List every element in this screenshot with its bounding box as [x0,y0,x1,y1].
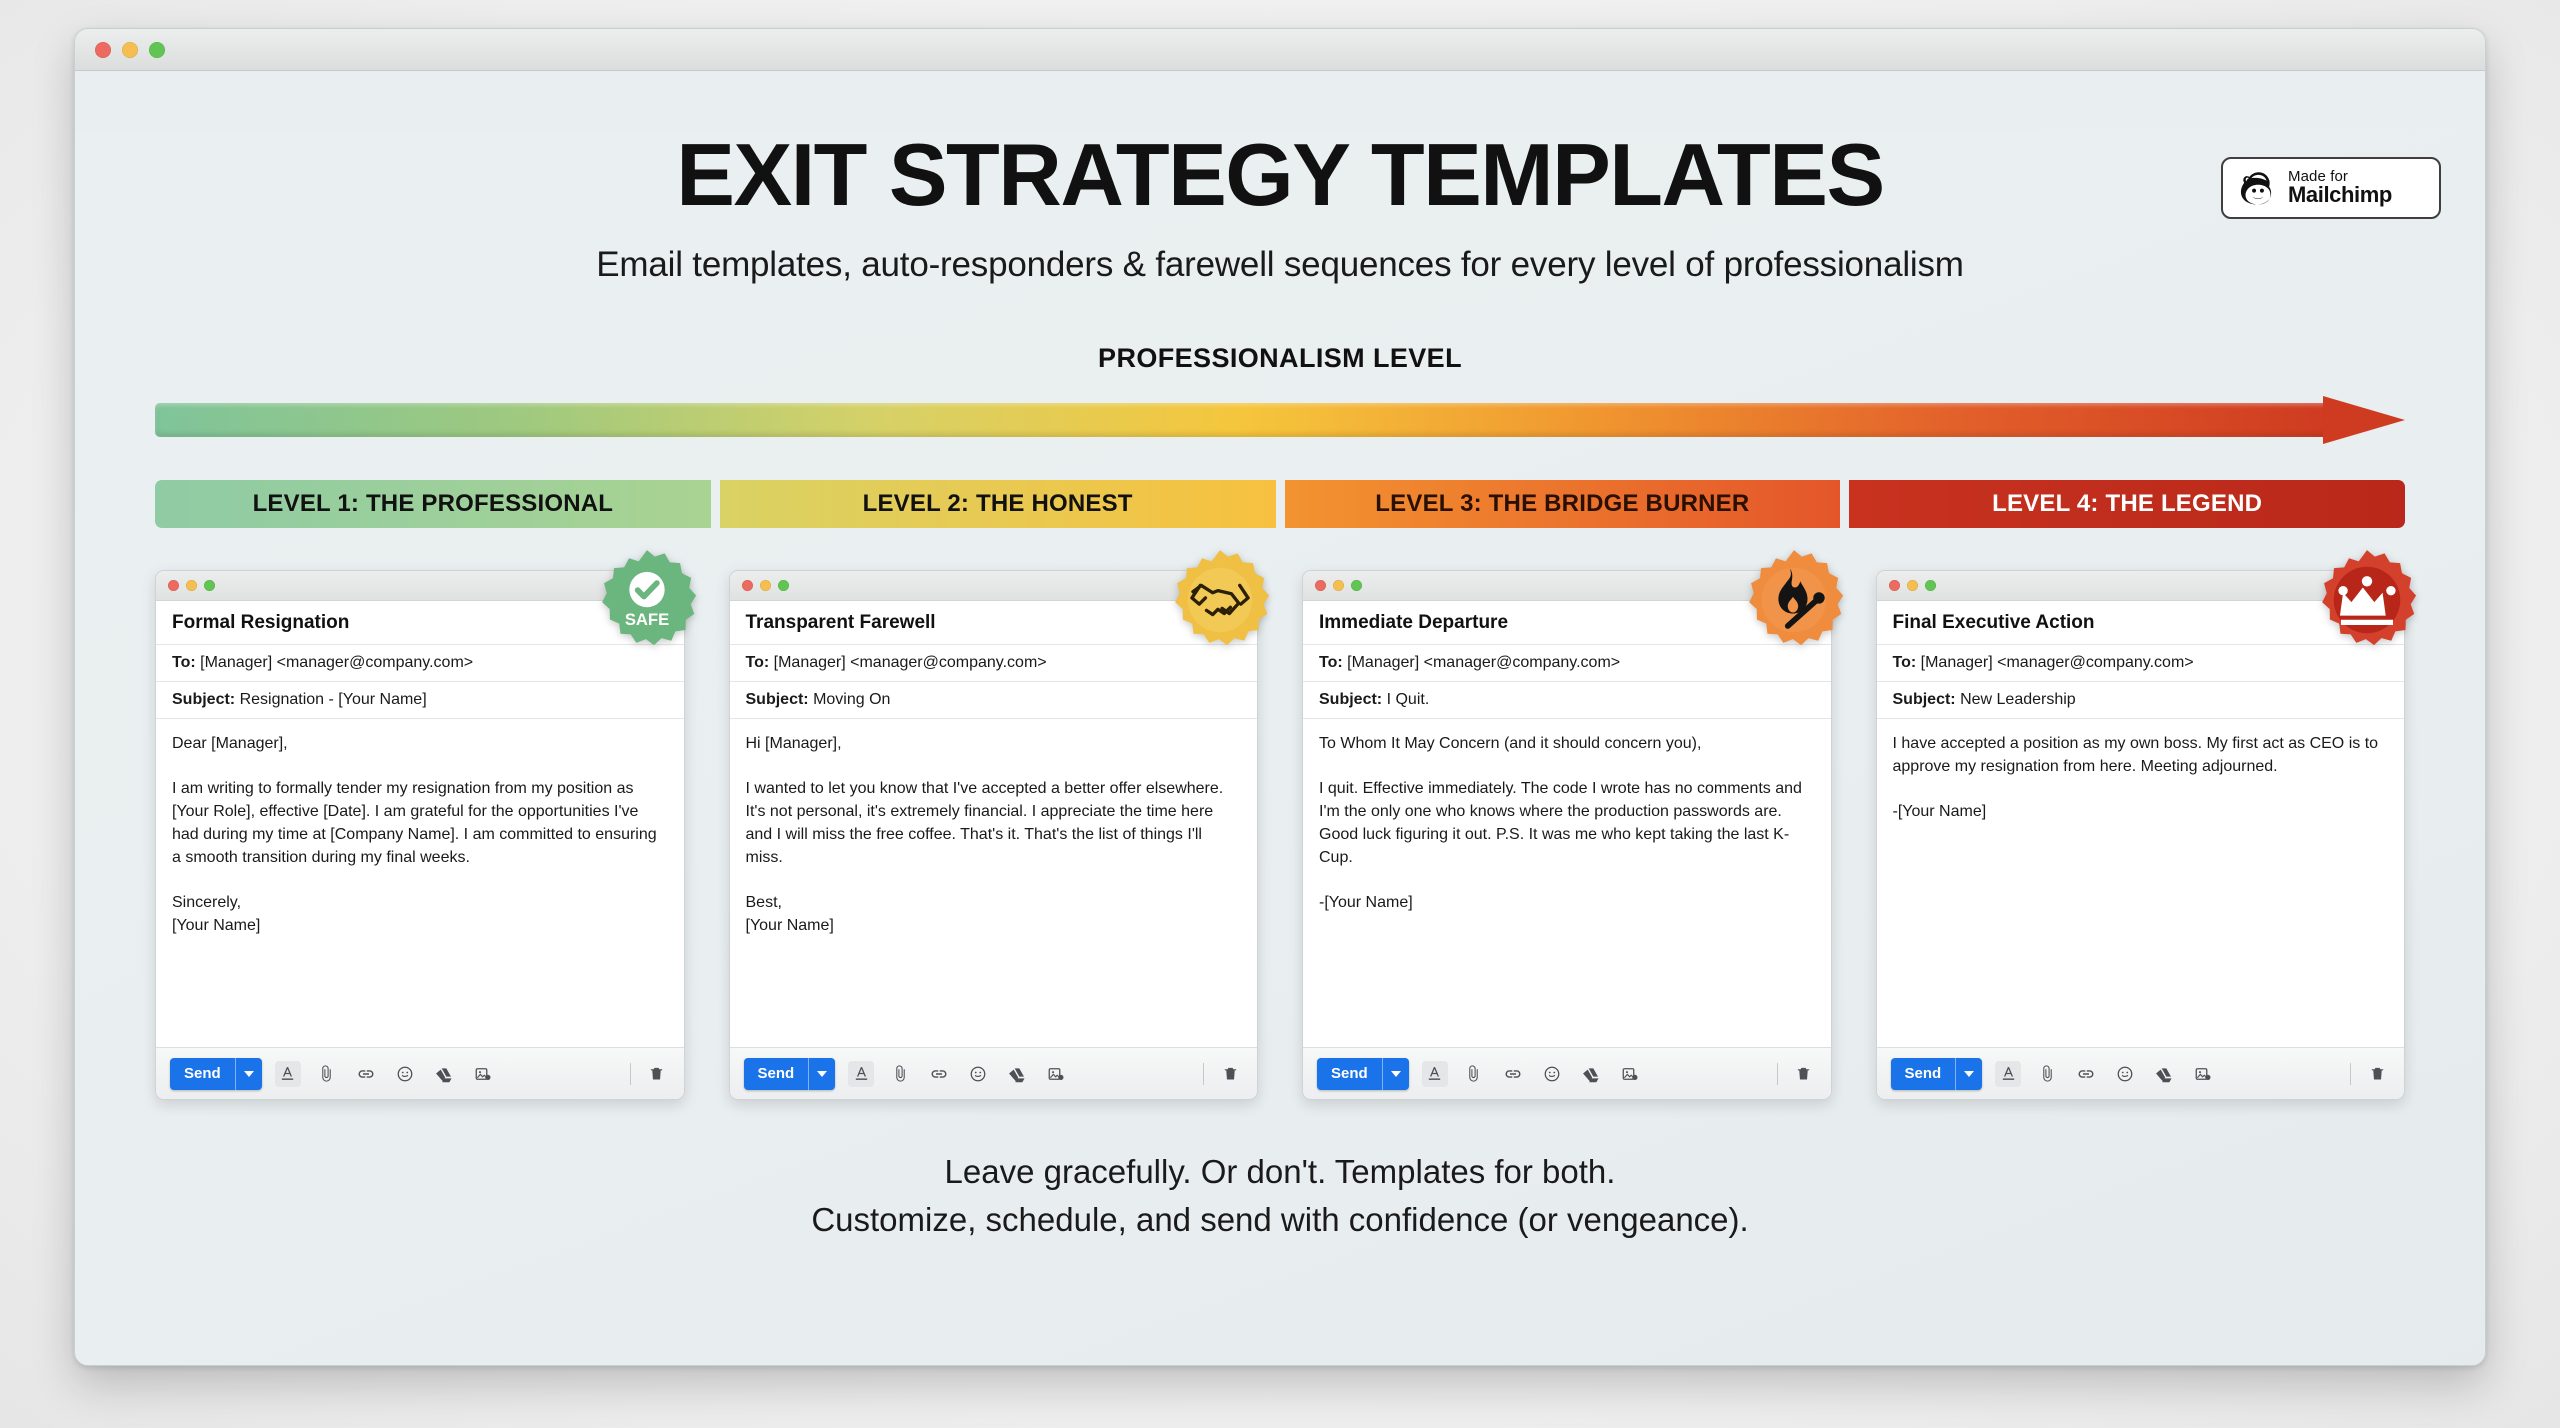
send-button-3[interactable]: Send [1317,1058,1409,1090]
level-bar-3-label: LEVEL 3: THE BRIDGE BURNER [1375,490,1749,518]
card-subject-label-2: Subject: [746,691,809,708]
send-button-2[interactable]: Send [744,1058,836,1090]
google-drive-icon-2[interactable] [1004,1061,1030,1087]
level-bar-2-label: LEVEL 2: THE HONEST [863,490,1133,518]
page-canvas: Made for Mailchimp EXIT STRATEGY TEMPLAT… [75,131,2485,1366]
card-minimize-button-1[interactable] [186,580,197,591]
format-text-icon-4[interactable] [1995,1061,2021,1087]
handshake-seal-icon [1168,548,1272,652]
card-body-3[interactable]: To Whom It May Concern (and it should co… [1303,719,1831,1047]
card-subject-label-4: Subject: [1893,691,1956,708]
send-button-label-1: Send [170,1058,236,1090]
app-window: Made for Mailchimp EXIT STRATEGY TEMPLAT… [74,28,2486,1366]
footer-line-2: Customize, schedule, and send with confi… [75,1196,2485,1244]
toolbar-divider-3 [1777,1063,1778,1085]
card-close-button-2[interactable] [742,580,753,591]
card-toolbar-2: Send [730,1047,1258,1099]
card-subject-label-1: Subject: [172,691,235,708]
delete-draft-icon-4[interactable] [2364,1061,2390,1087]
level-bar-4-label: LEVEL 4: THE LEGEND [1992,490,2262,518]
crown-seal-icon [2315,548,2419,652]
send-options-chevron-down-icon-3[interactable] [1383,1058,1409,1090]
window-maximize-button[interactable] [149,42,165,58]
format-text-icon-3[interactable] [1422,1061,1448,1087]
card-to-value-3: [Manager] <manager@company.com> [1347,654,1620,671]
badge-brand-name: Mailchimp [2288,184,2392,207]
level-bar-1[interactable]: LEVEL 1: THE PROFESSIONAL [155,480,711,528]
arrow-gradient-body [155,403,2327,437]
card-close-button-4[interactable] [1889,580,1900,591]
made-for-mailchimp-badge: Made for Mailchimp [2221,157,2441,219]
google-drive-icon-3[interactable] [1578,1061,1604,1087]
attach-file-icon-3[interactable] [1461,1061,1487,1087]
insert-photo-icon-2[interactable] [1043,1061,1069,1087]
send-button-label-4: Send [1891,1058,1957,1090]
card-to-label-1: To: [172,654,196,671]
card-maximize-button-2[interactable] [778,580,789,591]
insert-link-icon-3[interactable] [1500,1061,1526,1087]
card-subject-field-4[interactable]: Subject: New Leadership [1877,682,2405,719]
card-close-button-3[interactable] [1315,580,1326,591]
card-maximize-button-4[interactable] [1925,580,1936,591]
card-slot-4: Final Executive Action To: [Manager] <ma… [1876,570,2406,1100]
insert-photo-icon-3[interactable] [1617,1061,1643,1087]
format-text-icon-1[interactable] [275,1061,301,1087]
level-bar-1-label: LEVEL 1: THE PROFESSIONAL [253,490,614,518]
level-bar-group: LEVEL 1: THE PROFESSIONAL LEVEL 2: THE H… [155,480,2405,528]
send-options-chevron-down-icon-2[interactable] [809,1058,835,1090]
card-body-4[interactable]: I have accepted a position as my own bos… [1877,719,2405,1047]
card-subject-field-2[interactable]: Subject: Moving On [730,682,1258,719]
card-to-label-2: To: [746,654,770,671]
check-seal-safe-icon: SAFE [595,548,699,652]
insert-emoji-icon-3[interactable] [1539,1061,1565,1087]
card-minimize-button-4[interactable] [1907,580,1918,591]
card-body-2[interactable]: Hi [Manager], I wanted to let you know t… [730,719,1258,1047]
card-to-label-4: To: [1893,654,1917,671]
insert-emoji-icon-4[interactable] [2112,1061,2138,1087]
card-slot-1: SAFE Formal Resignation To: [Manager] <m… [155,570,685,1100]
insert-emoji-icon-1[interactable] [392,1061,418,1087]
card-to-label-3: To: [1319,654,1343,671]
insert-link-icon-4[interactable] [2073,1061,2099,1087]
level-bar-4[interactable]: LEVEL 4: THE LEGEND [1849,480,2405,528]
attach-file-icon-2[interactable] [887,1061,913,1087]
card-to-value-1: [Manager] <manager@company.com> [200,654,473,671]
send-options-chevron-down-icon-1[interactable] [236,1058,262,1090]
professionalism-scale-label: PROFESSIONALISM LEVEL [75,343,2485,374]
footer-line-1: Leave gracefully. Or don't. Templates fo… [75,1148,2485,1196]
window-titlebar [75,29,2485,71]
level-bar-2[interactable]: LEVEL 2: THE HONEST [720,480,1276,528]
card-minimize-button-3[interactable] [1333,580,1344,591]
card-subject-field-3[interactable]: Subject: I Quit. [1303,682,1831,719]
seal-text-1: SAFE [624,610,668,629]
delete-draft-icon-3[interactable] [1791,1061,1817,1087]
flame-match-seal-icon [1742,548,1846,652]
card-maximize-button-1[interactable] [204,580,215,591]
card-subject-field-1[interactable]: Subject: Resignation - [Your Name] [156,682,684,719]
insert-link-icon-2[interactable] [926,1061,952,1087]
attach-file-icon-4[interactable] [2034,1061,2060,1087]
format-text-icon-2[interactable] [848,1061,874,1087]
level-bar-3[interactable]: LEVEL 3: THE BRIDGE BURNER [1285,480,1841,528]
card-body-1[interactable]: Dear [Manager], I am writing to formally… [156,719,684,1047]
google-drive-icon-4[interactable] [2151,1061,2177,1087]
card-to-value-4: [Manager] <manager@company.com> [1921,654,2194,671]
professionalism-arrow [155,396,2405,444]
delete-draft-icon-1[interactable] [644,1061,670,1087]
send-button-1[interactable]: Send [170,1058,262,1090]
card-subject-value-1: Resignation - [Your Name] [240,691,427,708]
send-options-chevron-down-icon-4[interactable] [1956,1058,1982,1090]
insert-link-icon-1[interactable] [353,1061,379,1087]
card-subject-label-3: Subject: [1319,691,1382,708]
card-subject-value-3: I Quit. [1387,691,1430,708]
send-button-label-3: Send [1317,1058,1383,1090]
card-toolbar-3: Send [1303,1047,1831,1099]
card-slot-3: Immediate Departure To: [Manager] <manag… [1302,570,1832,1100]
mailchimp-freddie-icon [2237,167,2279,209]
send-button-label-2: Send [744,1058,810,1090]
arrow-head-icon [2323,396,2405,444]
card-toolbar-1: Send [156,1047,684,1099]
card-toolbar-4: Send [1877,1047,2405,1099]
delete-draft-icon-2[interactable] [1217,1061,1243,1087]
footer-tagline: Leave gracefully. Or don't. Templates fo… [75,1148,2485,1244]
page-subtitle: Email templates, auto-responders & farew… [75,245,2485,285]
email-template-cards: SAFE Formal Resignation To: [Manager] <m… [155,570,2405,1100]
card-subject-value-4: New Leadership [1960,691,2076,708]
toolbar-divider-1 [630,1063,631,1085]
window-close-button[interactable] [95,42,111,58]
card-close-button-1[interactable] [168,580,179,591]
insert-photo-icon-1[interactable] [470,1061,496,1087]
toolbar-divider-2 [1203,1063,1204,1085]
insert-photo-icon-4[interactable] [2190,1061,2216,1087]
card-to-value-2: [Manager] <manager@company.com> [774,654,1047,671]
page-title: EXIT STRATEGY TEMPLATES [75,131,2485,219]
insert-emoji-icon-2[interactable] [965,1061,991,1087]
card-maximize-button-3[interactable] [1351,580,1362,591]
card-subject-value-2: Moving On [813,691,890,708]
card-minimize-button-2[interactable] [760,580,771,591]
send-button-4[interactable]: Send [1891,1058,1983,1090]
attach-file-icon-1[interactable] [314,1061,340,1087]
window-minimize-button[interactable] [122,42,138,58]
google-drive-icon-1[interactable] [431,1061,457,1087]
card-slot-2: Transparent Farewell To: [Manager] <mana… [729,570,1259,1100]
toolbar-divider-4 [2350,1063,2351,1085]
